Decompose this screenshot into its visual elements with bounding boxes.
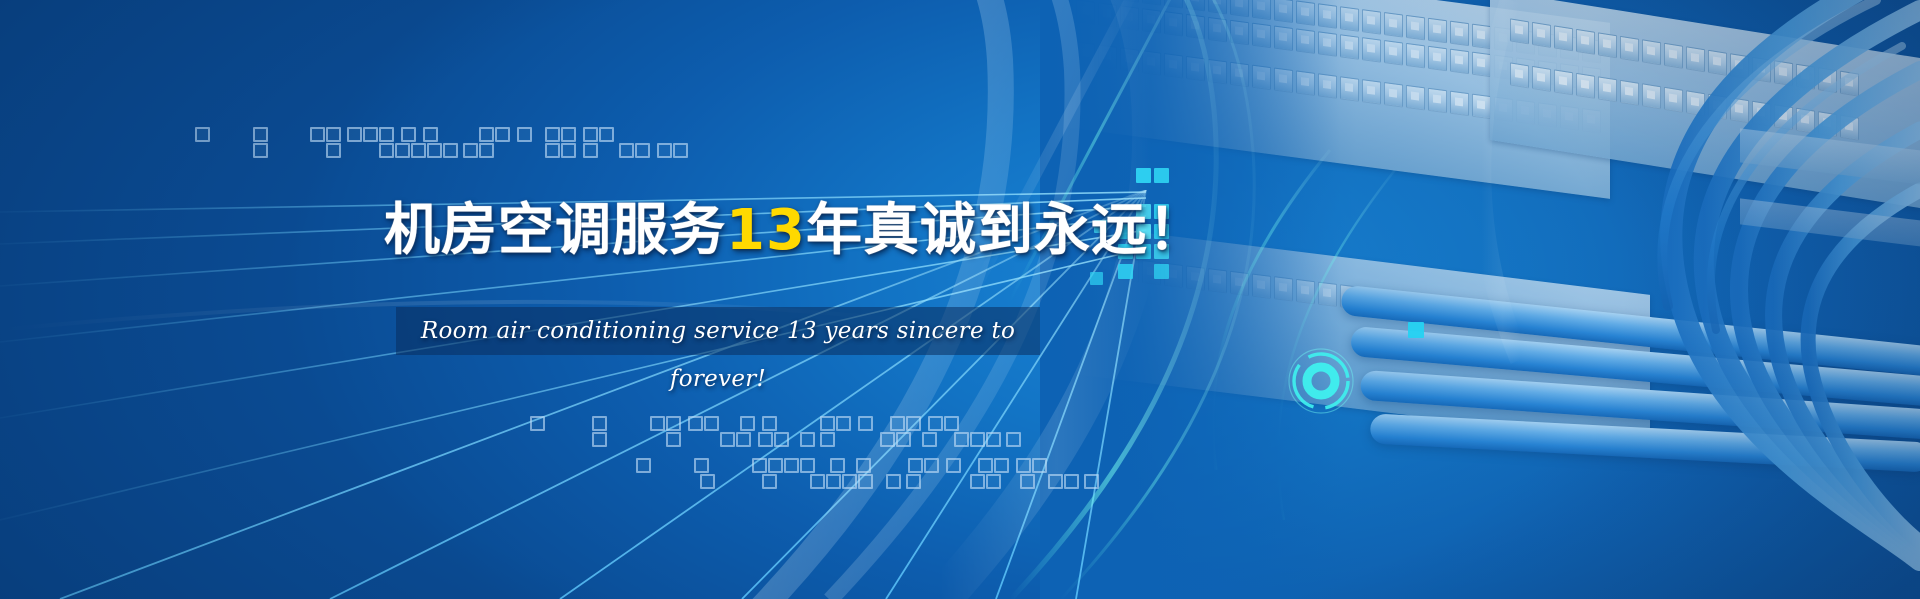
- page-title: 机房空调服务13年真诚到永远！: [384, 203, 1205, 259]
- decor-square: [970, 432, 985, 447]
- decor-square: [253, 143, 268, 158]
- decor-square: [890, 416, 905, 431]
- hero-banner: 机房空调服务13年真诚到永远！ Room air conditioning se…: [0, 0, 1920, 599]
- decor-square: [908, 458, 923, 473]
- decor-square: [800, 458, 815, 473]
- decor-square: [583, 143, 598, 158]
- decor-square: [858, 416, 873, 431]
- decor-square: [583, 127, 598, 142]
- decor-square: [443, 143, 458, 158]
- decor-square: [401, 127, 416, 142]
- decor-square: [820, 416, 835, 431]
- decor-square: [479, 143, 494, 158]
- decor-square: [758, 432, 773, 447]
- decor-square: [978, 458, 993, 473]
- decor-square: [561, 143, 576, 158]
- decor-square: [928, 416, 943, 431]
- decor-square: [856, 458, 871, 473]
- decor-square: [326, 143, 341, 158]
- decor-square: [411, 143, 426, 158]
- decor-square: [495, 127, 510, 142]
- headline-suffix: 年真诚到永远！: [806, 198, 1205, 263]
- decor-square: [946, 458, 961, 473]
- decor-square: [545, 143, 560, 158]
- decor-square: [986, 474, 1001, 489]
- decor-square: [1064, 474, 1079, 489]
- square-dot-pattern-top: [195, 125, 695, 161]
- decor-square: [896, 432, 911, 447]
- decor-square: [970, 474, 985, 489]
- decor-square: [836, 416, 851, 431]
- photo-content: [1040, 0, 1920, 599]
- decor-square: [694, 458, 709, 473]
- decor-square: [673, 143, 688, 158]
- hud-ring-icon: [1283, 343, 1359, 419]
- decor-square: [517, 127, 532, 142]
- decor-square: [635, 143, 650, 158]
- decor-square: [636, 458, 651, 473]
- decor-square: [720, 432, 735, 447]
- decor-square: [820, 432, 835, 447]
- decor-square: [858, 474, 873, 489]
- decor-square: [762, 416, 777, 431]
- decor-square: [704, 416, 719, 431]
- decor-square: [944, 416, 959, 431]
- decor-square: [545, 127, 560, 142]
- decor-square: [1032, 458, 1047, 473]
- headline-prefix: 机房空调服务: [384, 198, 726, 263]
- headline-highlight-number: 13: [726, 198, 806, 263]
- decor-square: [363, 127, 378, 142]
- subtitle-text: Room air conditioning service 13 years s…: [396, 307, 1040, 355]
- decor-square: [479, 127, 494, 142]
- decor-square: [463, 143, 478, 158]
- decor-square: [326, 127, 341, 142]
- decor-square: [395, 143, 410, 158]
- decor-square: [842, 474, 857, 489]
- decor-square: [922, 432, 937, 447]
- decor-square: [986, 432, 1001, 447]
- decor-square: [427, 143, 442, 158]
- decor-square: [1084, 474, 1099, 489]
- decor-square: [619, 143, 634, 158]
- decor-square: [347, 127, 362, 142]
- decor-square: [886, 474, 901, 489]
- network-switch-patch-panel-photo: [1040, 0, 1920, 599]
- decor-square: [1016, 458, 1031, 473]
- decor-square: [666, 432, 681, 447]
- decor-square: [253, 127, 268, 142]
- subtitle-band: Room air conditioning service 13 years s…: [396, 307, 1040, 355]
- decor-square: [954, 432, 969, 447]
- decor-square: [880, 432, 895, 447]
- decor-square: [379, 143, 394, 158]
- decor-square: [774, 432, 789, 447]
- decor-square: [800, 432, 815, 447]
- decor-square: [810, 474, 825, 489]
- decor-square: [379, 127, 394, 142]
- decor-square: [310, 127, 325, 142]
- decor-square: [906, 474, 921, 489]
- decor-square: [650, 416, 665, 431]
- decor-square: [666, 416, 681, 431]
- decor-square: [826, 474, 841, 489]
- decor-square: [599, 127, 614, 142]
- decor-square: [561, 127, 576, 142]
- decor-square: [423, 127, 438, 142]
- decor-square: [924, 458, 939, 473]
- decor-square: [762, 474, 777, 489]
- decor-square: [740, 416, 755, 431]
- decor-square: [736, 432, 751, 447]
- decor-square: [530, 416, 545, 431]
- decor-square: [657, 143, 672, 158]
- decor-square: [830, 458, 845, 473]
- decor-square: [592, 416, 607, 431]
- decor-square: [688, 416, 703, 431]
- square-dot-pattern-bottom: [530, 410, 1100, 490]
- decor-square: [906, 416, 921, 431]
- decor-square: [195, 127, 210, 142]
- decor-square: [784, 458, 799, 473]
- decor-square: [1006, 432, 1021, 447]
- decor-square: [752, 458, 767, 473]
- decor-square: [1048, 474, 1063, 489]
- decor-square: [700, 474, 715, 489]
- decor-square: [994, 458, 1009, 473]
- decor-square: [592, 432, 607, 447]
- decor-square: [768, 458, 783, 473]
- decor-square: [1020, 474, 1035, 489]
